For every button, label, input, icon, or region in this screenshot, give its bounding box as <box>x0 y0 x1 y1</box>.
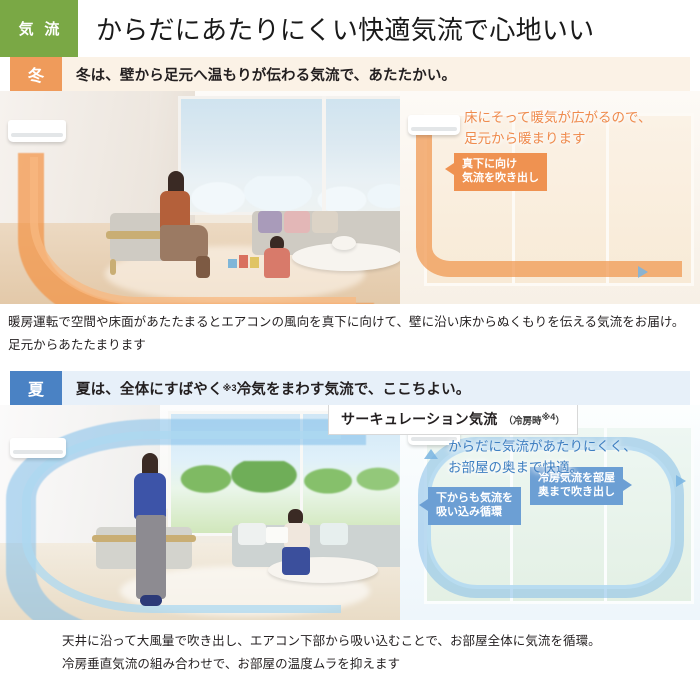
winter-inset-ac-vane <box>411 127 457 131</box>
callout-tail <box>445 163 454 175</box>
summer-air-conditioner <box>10 438 66 458</box>
category-badge: 気 流 <box>0 0 78 57</box>
summer-ac-vane <box>13 450 62 454</box>
winter-season-header: 冬 冬は、壁から足元へ温もりが伝わる気流で、あたたかい。 <box>10 57 690 91</box>
airflow-feature-page: 気 流 からだにあたりにくい快適気流で心地いい 冬 冬は、壁から足元へ温もりが伝… <box>0 0 700 700</box>
winter-room-photo <box>0 91 410 304</box>
winter-teapot <box>332 236 356 250</box>
summer-inset-heading-sub: （冷房時※4） <box>504 412 565 427</box>
winter-toy-block-blue <box>228 259 237 268</box>
winter-scene: 真下に向け 気流を吹き出し 垂直気流 暖房時（風向上下自動設定） 床にそって暖気… <box>0 91 700 304</box>
summer-child-pants <box>282 547 310 575</box>
summer-season-title-part2: 冷気をまわす気流で、ここちよい。 <box>237 378 471 399</box>
summer-heading-sub-open: （冷房時 <box>504 416 542 427</box>
callout-tail <box>419 499 428 511</box>
summer-season-header: 夏 夏は、全体にすばやく※3冷気をまわす気流で、ここちよい。 <box>10 371 690 405</box>
winter-inset-flow-arrow <box>638 266 648 278</box>
winter-caption: 暖房運転で空間や床面があたたまるとエアコンの風向を真下に向けて、壁に沿い床からぬ… <box>0 304 700 357</box>
winter-inset-air-conditioner <box>408 115 460 135</box>
summer-callout-left: 下からも気流を 吸い込み循環 <box>428 487 521 525</box>
summer-season-title: 夏は、全体にすばやく※3冷気をまわす気流で、ここちよい。 <box>62 371 690 405</box>
page-title: からだにあたりにくい快適気流で心地いい <box>78 0 700 57</box>
summer-inset-heading: サーキュレーション気流 （冷房時※4） <box>328 405 578 435</box>
winter-adult-torso <box>160 191 190 229</box>
summer-adult-pants <box>136 515 166 599</box>
summer-season-title-part1: 夏は、全体にすばやく <box>76 378 223 399</box>
summer-scene: 下からも気流を 吸い込み循環 冷房気流を部屋 奥まで吹き出し サーキュレーション… <box>0 405 700 620</box>
summer-cushion-grey <box>320 523 348 545</box>
winter-cushion-purple <box>258 211 282 233</box>
summer-season-badge: 夏 <box>10 371 62 405</box>
winter-lead-text: 床にそって暖気が広がるので、 足元から暖まります <box>464 108 652 150</box>
winter-cushion-beige <box>312 211 338 233</box>
summer-adult-top <box>134 473 166 519</box>
summer-inset-outflow-arrow <box>676 475 686 487</box>
summer-heading-note: ※4 <box>542 412 556 422</box>
summer-season-title-note: ※3 <box>223 383 237 394</box>
winter-air-conditioner <box>8 120 66 142</box>
summer-section: 夏 夏は、全体にすばやく※3冷気をまわす気流で、ここちよい。 <box>0 371 700 676</box>
summer-lead-text: からだに気流があたりにくく、 お部屋の奥まで快適。 <box>448 437 637 479</box>
winter-season-badge: 冬 <box>10 57 62 91</box>
winter-season-title: 冬は、壁から足元へ温もりが伝わる気流で、あたたかい。 <box>62 57 690 91</box>
summer-child-book <box>266 527 288 543</box>
summer-heading-sub-close: ） <box>555 416 565 427</box>
summer-adult-slippers <box>140 595 162 606</box>
winter-ac-vane <box>11 133 62 137</box>
page-header: 気 流 からだにあたりにくい快適気流で心地いい <box>0 0 700 57</box>
winter-child-body <box>264 248 290 278</box>
summer-caption: 天井に沿って大風量で吹き出し、エアコン下部から吸い込むことで、お部屋全体に気流を… <box>0 620 700 676</box>
winter-section: 冬 冬は、壁から足元へ温もりが伝わる気流で、あたたかい。 <box>0 57 700 357</box>
winter-inset-airflow <box>416 129 682 277</box>
callout-tail <box>623 479 632 491</box>
summer-cushion-white <box>238 523 266 545</box>
winter-armchair-leg <box>110 259 116 275</box>
summer-inset-intake-arrow <box>424 449 438 459</box>
winter-callout: 真下に向け 気流を吹き出し <box>454 153 547 191</box>
summer-room-photo <box>0 405 410 620</box>
winter-toy-block-red <box>239 255 248 268</box>
summer-inset-heading-main: サーキュレーション気流 <box>341 409 498 429</box>
winter-toy-block-yellow <box>250 257 259 268</box>
winter-adult-boots <box>196 256 210 278</box>
winter-cushion-pink <box>284 211 310 233</box>
